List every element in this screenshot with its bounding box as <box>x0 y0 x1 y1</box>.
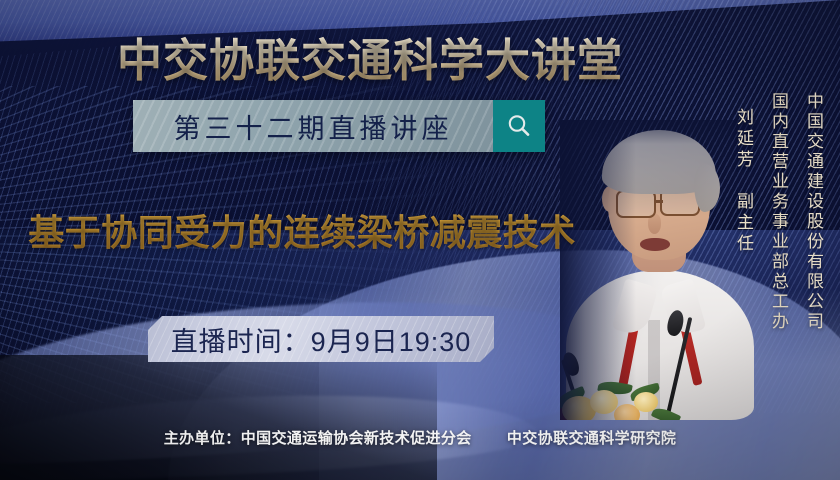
live-lecture-poster: 中交协联交通科学大讲堂 第三十二期直播讲座 基于协同受力的连续梁桥减震技术 直播… <box>0 0 840 480</box>
background-vignette <box>0 0 840 480</box>
